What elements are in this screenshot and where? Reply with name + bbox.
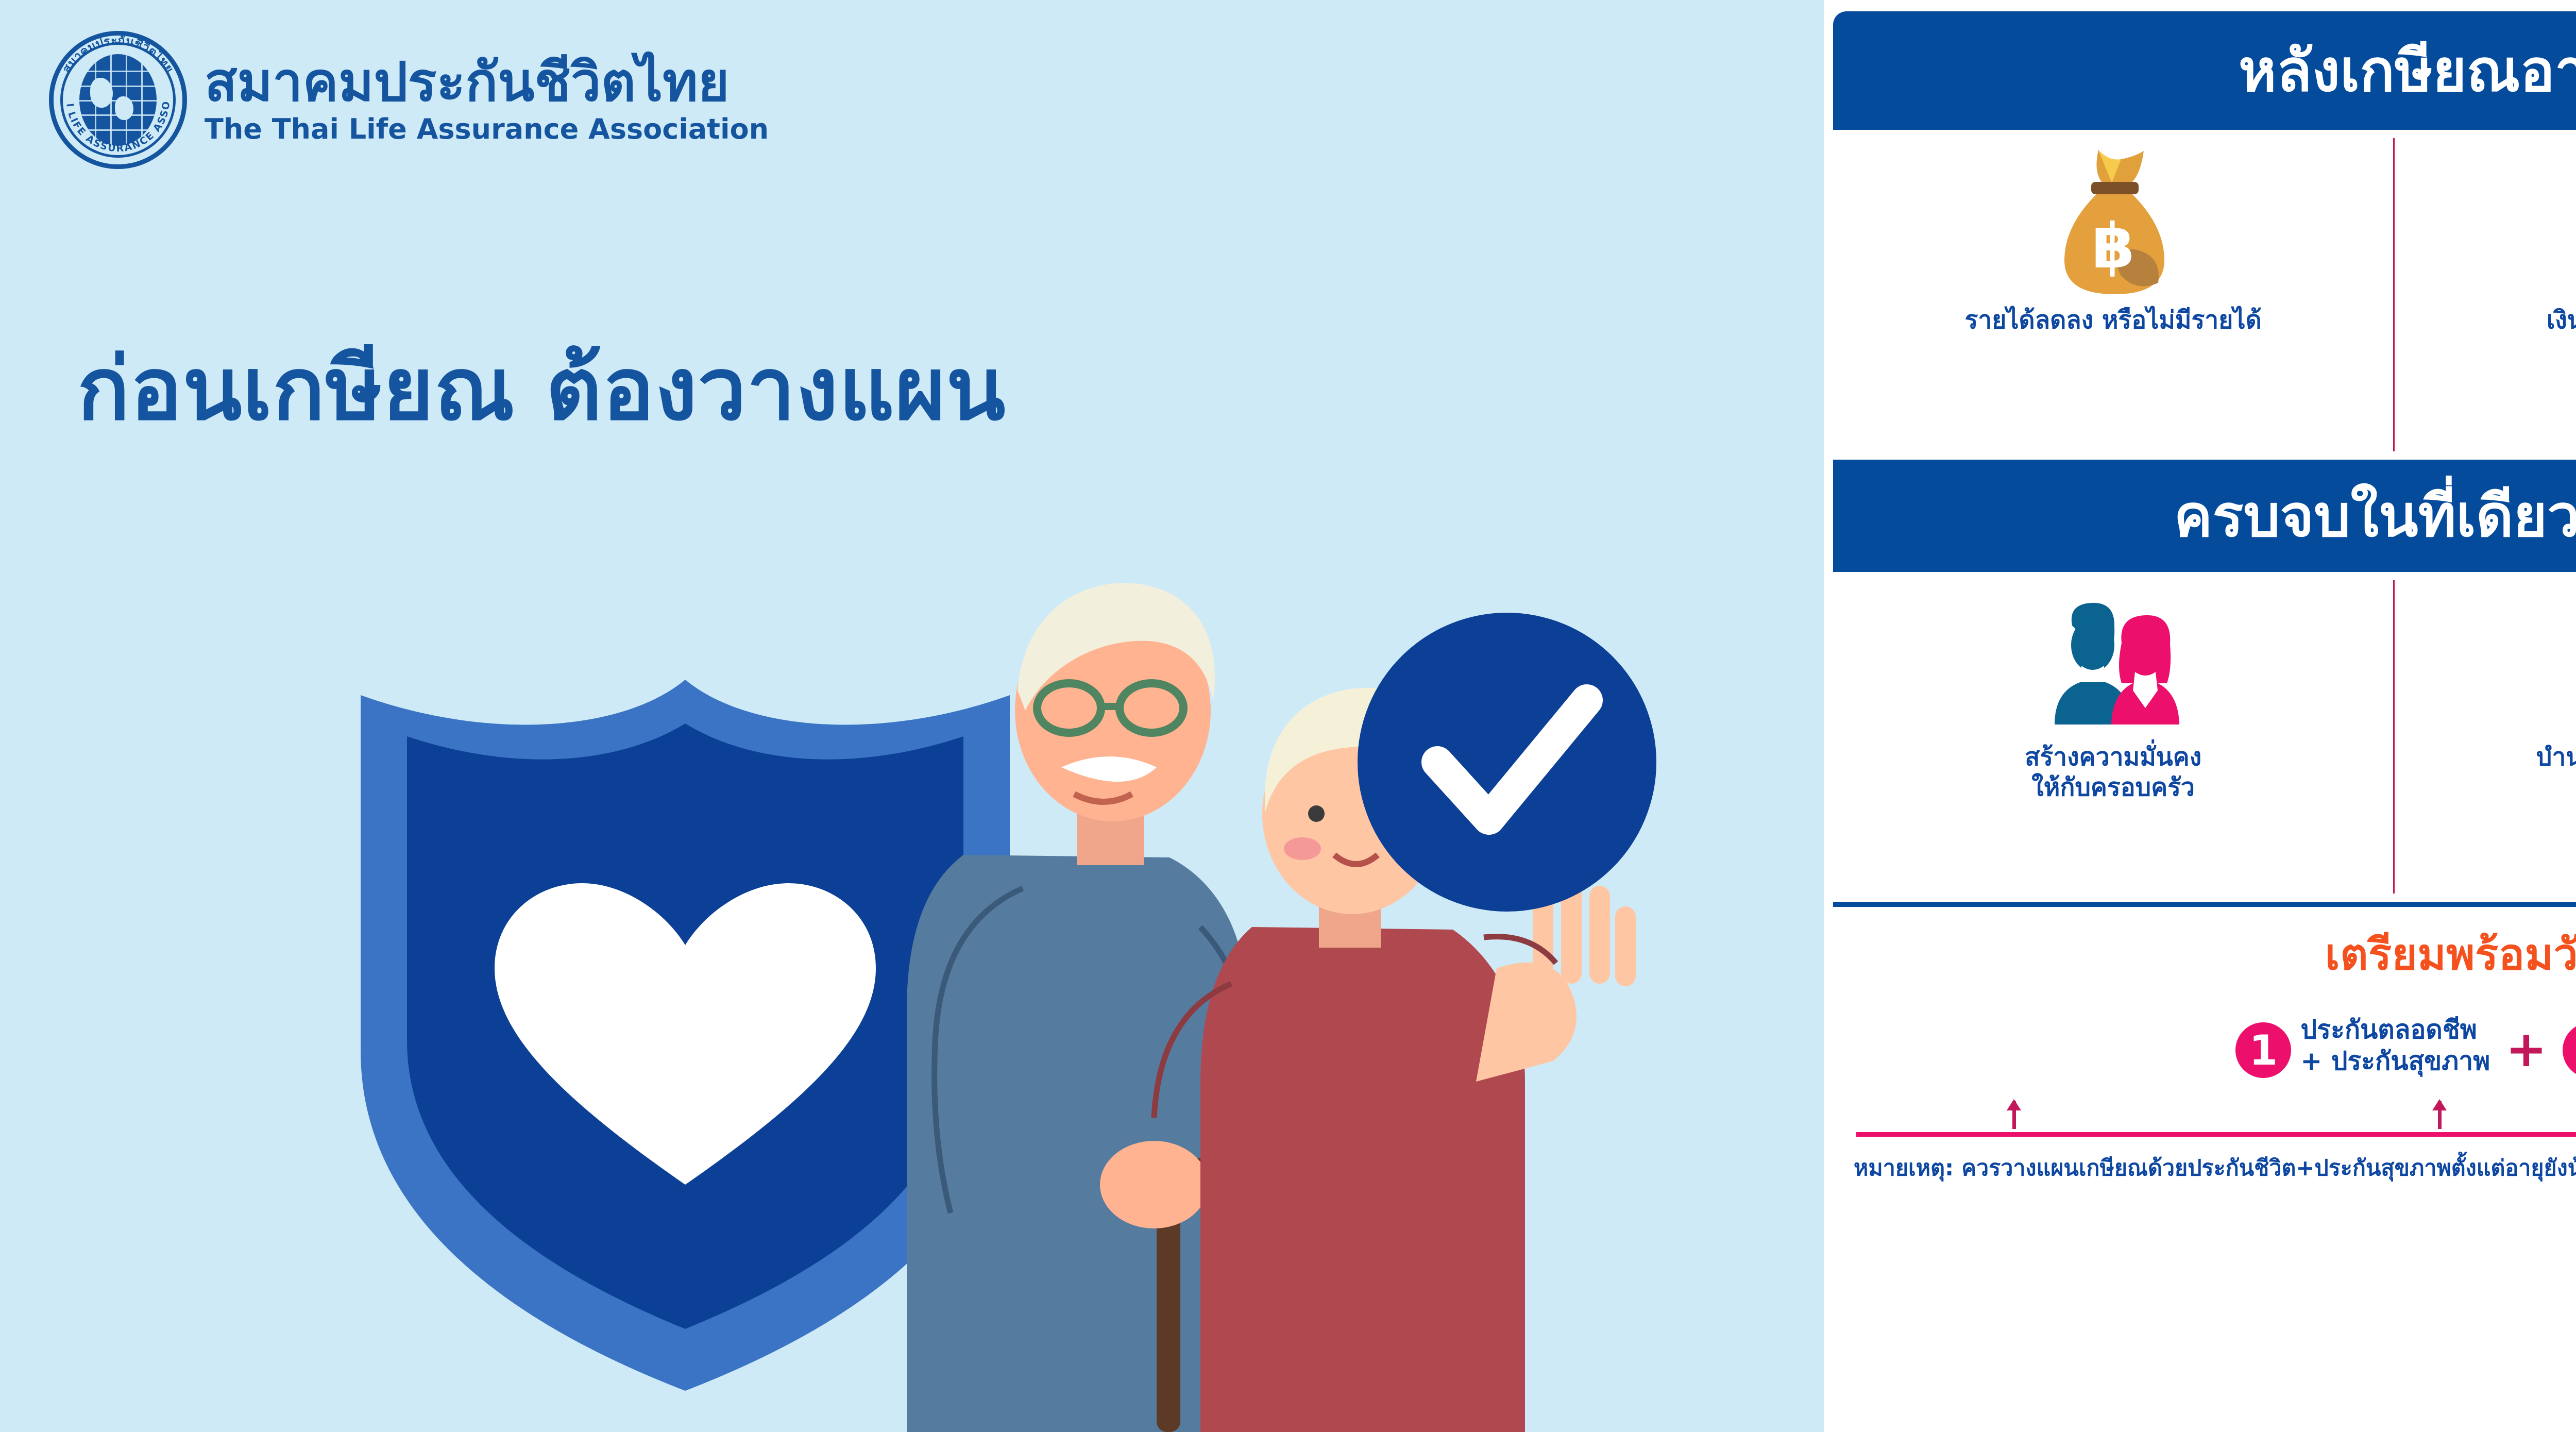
risk-item-label: เงินออมหมดก่อนอายุขัย [2547, 305, 2576, 335]
money-bag-baht-icon: ฿ [2054, 143, 2173, 298]
solution-item-label: บำนาญสร้างได้ด้วยตัวเอง [2536, 742, 2576, 772]
retirement-illustration [0, 422, 1824, 1432]
solution-item-self-pension: ฿ ฿ ฿ [2393, 572, 2576, 902]
risk-item-label: รายได้ลดลง หรือไม่มีรายได้ [1965, 305, 2262, 335]
family-couple-avatar-icon [2041, 585, 2185, 735]
risk-item-savings-depleted: tax tax เงินออมหมดก่อนอายุขัย [2393, 130, 2576, 460]
footnote: หมายเหตุ: ควรวางแผนเกษียณด้วยประกันชีวิต… [1833, 1150, 2576, 1185]
product-arrows [1833, 1097, 2576, 1129]
product-line-1: ประกันตลอดชีพ [2300, 1014, 2490, 1046]
seal-arc-thai: สมาคมประกันชีวิตไทย [60, 34, 176, 76]
products-underline [1856, 1132, 2576, 1137]
footnote-text: ควรวางแผนเกษียณด้วยประกันชีวิต+ประกันสุข… [1961, 1155, 2576, 1181]
risk-banner: หลังเกษียณอาจไม่เป็นอย่างที่คิด หากชีวิต… [1833, 11, 2576, 130]
left-panel: สมาคมประกันชีวิตไทย THE THAI LIFE ASSURA… [0, 0, 1824, 1432]
product-number-badge: 1 [2235, 1022, 2291, 1078]
footnote-label: หมายเหตุ: [1854, 1155, 1954, 1181]
risk-icon-row: ฿ รายได้ลดลง หรือไม่มีรายได้ [1833, 130, 2576, 460]
product-list: 1 ประกันตลอดชีพ + ประกันสุขภาพ + 2 ประกั… [1833, 1011, 2576, 1100]
infographic-root: สมาคมประกันชีวิตไทย THE THAI LIFE ASSURA… [0, 0, 2576, 1432]
products-title: เตรียมพร้อมวัยเกษียณด้วยผลิตภัณฑ์ประกันช… [2325, 919, 2576, 988]
section-divider [1833, 902, 2576, 907]
plus-separator: + [2505, 1024, 2547, 1074]
checkmark-badge-icon [1358, 613, 1656, 912]
product-item-2: 2 ประกันชีวิต แบบบำนาญ [2563, 1011, 2576, 1078]
association-logo: สมาคมประกันชีวิตไทย THE THAI LIFE ASSURA… [49, 31, 769, 169]
logo-english-name: The Thai Life Assurance Association [205, 113, 769, 146]
svg-text:สมาคมประกันชีวิตไทย: สมาคมประกันชีวิตไทย [60, 34, 176, 76]
risk-item-income-drop: ฿ รายได้ลดลง หรือไม่มีรายได้ [1833, 130, 2393, 460]
association-seal-icon: สมาคมประกันชีวิตไทย THE THAI LIFE ASSURA… [49, 31, 187, 169]
product-number-badge: 2 [2563, 1022, 2576, 1078]
svg-text:฿: ฿ [2092, 211, 2135, 282]
right-panel: หลังเกษียณอาจไม่เป็นอย่างที่คิด หากชีวิต… [1824, 0, 2576, 1432]
product-line-2: + ประกันสุขภาพ [2300, 1046, 2490, 1077]
logo-thai-name: สมาคมประกันชีวิตไทย [205, 54, 769, 110]
products-section: เตรียมพร้อมวัยเกษียณด้วยผลิตภัณฑ์ประกันช… [1833, 907, 2576, 1421]
solution-item-family-security: สร้างความมั่นคง ให้กับครอบครัว [1833, 572, 2393, 902]
solution-item-label: สร้างความมั่นคง ให้กับครอบครัว [2025, 742, 2201, 802]
solution-banner: ครบจบในที่เดียว คุ้มครองชีวิต ดูแลสุขภาพ… [1833, 460, 2576, 572]
solution-icon-row: สร้างความมั่นคง ให้กับครอบครัว ฿ [1833, 572, 2576, 902]
product-item-1: 1 ประกันตลอดชีพ + ประกันสุขภาพ [2235, 1011, 2490, 1078]
